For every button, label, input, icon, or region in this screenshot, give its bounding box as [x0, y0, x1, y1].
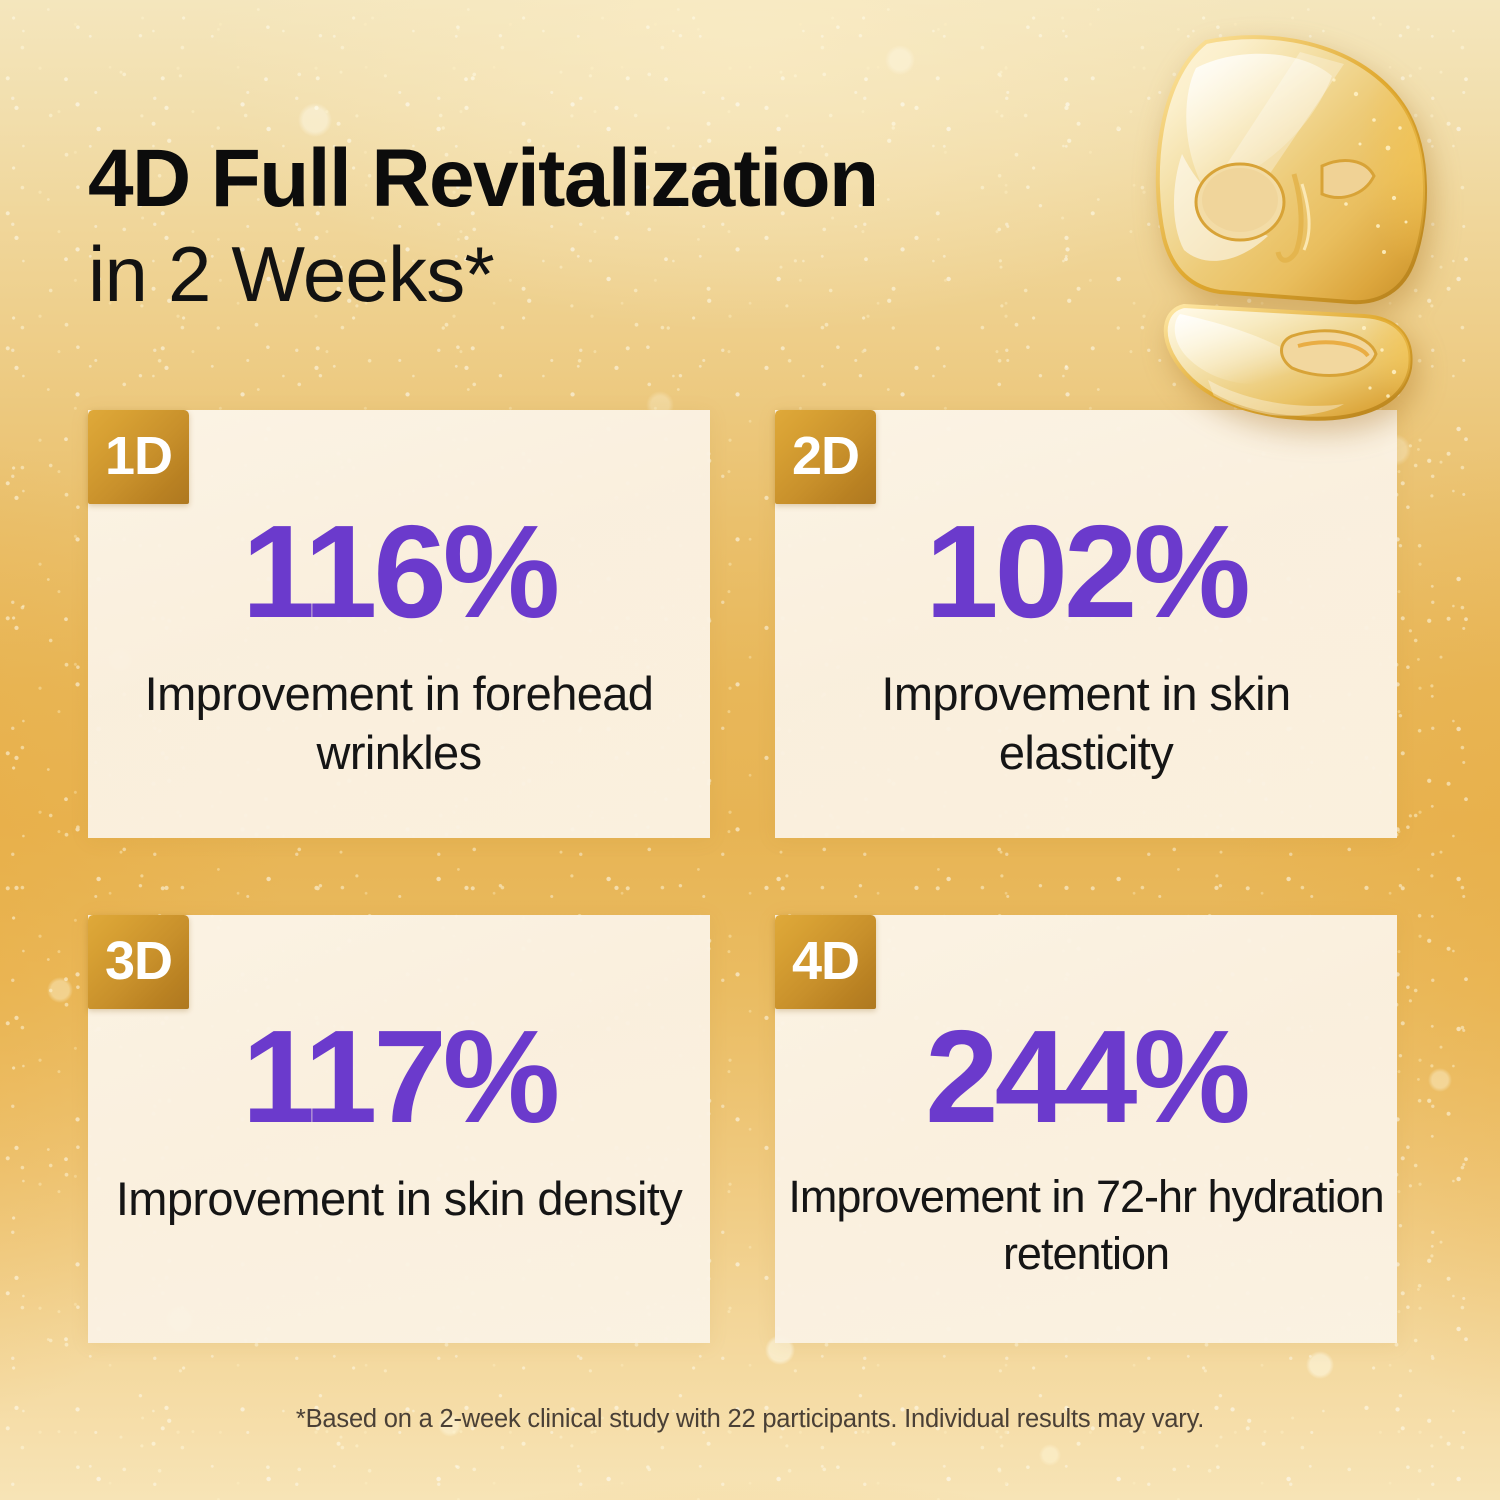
badge-slot: 4D — [775, 910, 876, 1009]
gold-face-mask-icon — [1088, 24, 1492, 424]
stage-badge-3d: 3D — [88, 915, 189, 1009]
stage-badge-label: 3D — [105, 934, 172, 988]
stage-badge-label: 1D — [105, 429, 172, 483]
stat-description: Improvement in forehead wrinkles — [88, 664, 710, 782]
header-block: 4D Full Revitalization in 2 Weeks* — [88, 138, 878, 316]
stage-badge-2d: 2D — [775, 410, 876, 504]
page-title-line1: 4D Full Revitalization — [88, 138, 878, 220]
badge-slot: 2D — [775, 405, 876, 504]
stage-badge-label: 4D — [792, 934, 859, 988]
page-title-line2: in 2 Weeks* — [88, 232, 878, 316]
stage-badge-1d: 1D — [88, 410, 189, 504]
stat-card-2d: 2D 102% Improvement in skin elasticity — [775, 410, 1397, 838]
stat-percent: 116% — [242, 506, 556, 638]
badge-slot: 3D — [88, 910, 189, 1009]
badge-slot: 1D — [88, 405, 189, 504]
stat-description: Improvement in 72-hr hydration retention — [775, 1169, 1397, 1282]
infographic-stage: 4D Full Revitalization in 2 Weeks* — [0, 0, 1500, 1500]
stat-percent: 244% — [925, 1011, 1247, 1143]
stat-percent: 102% — [925, 506, 1247, 638]
stat-card-1d: 1D 116% Improvement in forehead wrinkles — [88, 410, 710, 838]
stat-percent: 117% — [242, 1011, 556, 1143]
footnote-disclaimer: *Based on a 2-week clinical study with 2… — [0, 1405, 1500, 1434]
stat-description: Improvement in skin density — [98, 1169, 700, 1228]
stat-description: Improvement in skin elasticity — [775, 664, 1397, 782]
stat-card-3d: 3D 117% Improvement in skin density — [88, 915, 710, 1343]
stage-badge-label: 2D — [792, 429, 859, 483]
stage-badge-4d: 4D — [775, 915, 876, 1009]
stat-card-4d: 4D 244% Improvement in 72-hr hydration r… — [775, 915, 1397, 1343]
